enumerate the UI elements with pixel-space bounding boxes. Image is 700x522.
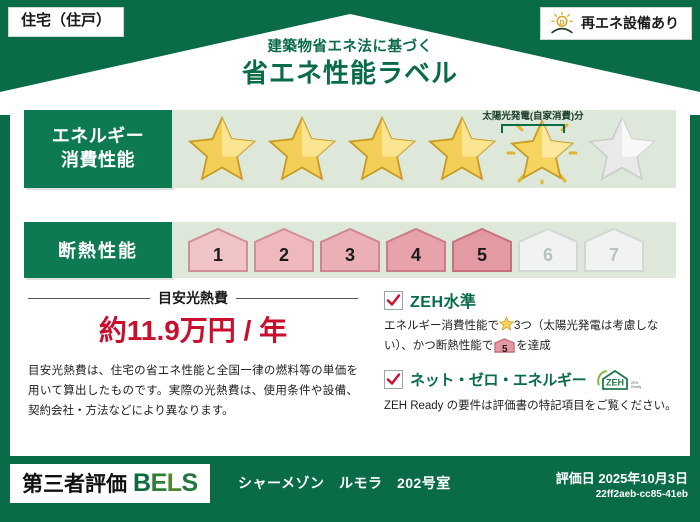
insulation-level-scale: 1 2 3 4 5 bbox=[178, 227, 646, 273]
renewable-equipment-label: 再エネ設備あり bbox=[581, 13, 679, 33]
energy-label-line2: 消費性能 bbox=[61, 149, 135, 173]
star-icon-filled-3 bbox=[344, 113, 420, 185]
page-title: 省エネ性能ラベル bbox=[0, 59, 700, 89]
bels-certification-badge: 第三者評価 BELS bbox=[10, 464, 210, 503]
solar-self-consumption-annotation: 太陽光発電(自家消費)分 bbox=[468, 112, 598, 133]
utility-cost-heading-text: 目安光熱費 bbox=[158, 288, 228, 308]
zeh-standard-item: ZEH水準 エネルギー消費性能で3つ（太陽光発電は考慮しない）、かつ断熱性能で5… bbox=[384, 288, 680, 357]
zeh-standard-header: ZEH水準 bbox=[384, 288, 680, 312]
utility-cost-heading: 目安光熱費 bbox=[28, 288, 358, 308]
insulation-house-2: 2 bbox=[252, 227, 316, 273]
zeh-standard-title: ZEH水準 bbox=[410, 288, 477, 312]
star-icon-filled-1 bbox=[184, 113, 260, 185]
solar-bracket bbox=[501, 124, 565, 133]
zeh-body-post: を達成 bbox=[516, 340, 551, 352]
insulation-house-7: 7 bbox=[582, 227, 646, 273]
solar-annotation-label: 太陽光発電(自家消費)分 bbox=[468, 112, 598, 122]
utility-cost-value: 約11.9万円 / 年 bbox=[28, 316, 358, 347]
svg-text:D: D bbox=[560, 20, 565, 27]
third-party-evaluation-label: 第三者評価 bbox=[22, 468, 127, 498]
net-zero-energy-item: ネット・ゼロ・エネルギー ZEH ZEH Ready ZEH Ready の要件… bbox=[384, 367, 680, 417]
sun-solar-icon: D bbox=[549, 11, 575, 35]
star-icon-inline bbox=[499, 316, 514, 331]
utility-cost-block: 目安光熱費 約11.9万円 / 年 目安光熱費は、住宅の省エネ性能と全国一律の燃… bbox=[28, 288, 358, 421]
zeh-body-house-level: 5 bbox=[494, 338, 515, 358]
energy-label-line1: エネルギー bbox=[52, 125, 145, 149]
insulation-level-track: 1 2 3 4 5 bbox=[172, 222, 676, 278]
insulation-performance-row: 断熱性能 1 2 3 4 bbox=[24, 222, 676, 278]
title-subtitle: 建築物省エネ法に基づく bbox=[0, 40, 700, 56]
svg-text:ZEH: ZEH bbox=[606, 377, 624, 387]
evaluation-meta: 評価日 2025年10月3日 22ff2aeb-cc85-41eb bbox=[556, 468, 688, 500]
net-zero-energy-body: ZEH Ready の要件は評価書の特記項目をご覧ください。 bbox=[384, 397, 680, 417]
heading-rule-right bbox=[236, 298, 358, 299]
net-zero-energy-title: ネット・ゼロ・エネルギー bbox=[410, 369, 586, 390]
insulation-house-5: 5 bbox=[450, 227, 514, 273]
dwelling-type-tag: 住宅（住戸） bbox=[8, 7, 124, 37]
zeh-column: ZEH水準 エネルギー消費性能で3つ（太陽光発電は考慮しない）、かつ断熱性能で5… bbox=[384, 288, 680, 426]
title-block: 建築物省エネ法に基づく 省エネ性能ラベル bbox=[0, 40, 700, 89]
dwelling-type-label: 住宅（住戸） bbox=[21, 12, 111, 29]
insulation-label-text: 断熱性能 bbox=[58, 237, 138, 263]
footer: 第三者評価 BELS シャーメゾン ルモラ 202号室 評価日 2025年10月… bbox=[0, 458, 700, 522]
star-icon-filled-2 bbox=[264, 113, 340, 185]
bels-logo-text: BELS bbox=[133, 469, 198, 498]
evaluation-date-value: 2025年10月3日 bbox=[598, 471, 688, 486]
check-icon bbox=[386, 293, 401, 308]
energy-star-track bbox=[172, 110, 676, 188]
utility-cost-note: 目安光熱費は、住宅の省エネ性能と全国一律の燃料等の単価を用いて算出したものです。… bbox=[28, 361, 358, 421]
evaluation-date: 評価日 2025年10月3日 bbox=[556, 468, 688, 487]
insulation-house-4: 4 bbox=[384, 227, 448, 273]
energy-performance-label: エネルギー 消費性能 bbox=[24, 110, 172, 188]
check-icon bbox=[386, 372, 401, 387]
heading-rule-left bbox=[28, 298, 150, 299]
zeh-standard-checkbox[interactable] bbox=[384, 291, 403, 310]
insulation-house-inline: 5 bbox=[494, 338, 515, 353]
zeh-ready-logo-icon: ZEH ZEH Ready bbox=[595, 367, 641, 393]
net-zero-energy-checkbox[interactable] bbox=[384, 370, 403, 389]
zeh-body-pre: エネルギー消費性能で bbox=[384, 320, 499, 332]
renewable-equipment-badge: D 再エネ設備あり bbox=[540, 7, 692, 40]
bels-energy-label: 住宅（住戸） D 再エネ設備あり 建築物省エネ法に基づく 省エネ性能ラベル エネ… bbox=[0, 0, 700, 522]
certificate-id: 22ff2aeb-cc85-41eb bbox=[556, 489, 688, 500]
evaluation-date-label: 評価日 bbox=[556, 471, 595, 486]
insulation-house-6: 6 bbox=[516, 227, 580, 273]
insulation-house-3: 3 bbox=[318, 227, 382, 273]
net-zero-energy-header: ネット・ゼロ・エネルギー ZEH ZEH Ready bbox=[384, 367, 680, 393]
insulation-house-1: 1 bbox=[186, 227, 250, 273]
property-name: シャーメゾン ルモラ 202号室 bbox=[238, 473, 451, 493]
insulation-performance-label: 断熱性能 bbox=[24, 222, 172, 278]
zeh-standard-body: エネルギー消費性能で3つ（太陽光発電は考慮しない）、かつ断熱性能で5を達成 bbox=[384, 316, 680, 357]
svg-text:Ready: Ready bbox=[631, 385, 641, 389]
